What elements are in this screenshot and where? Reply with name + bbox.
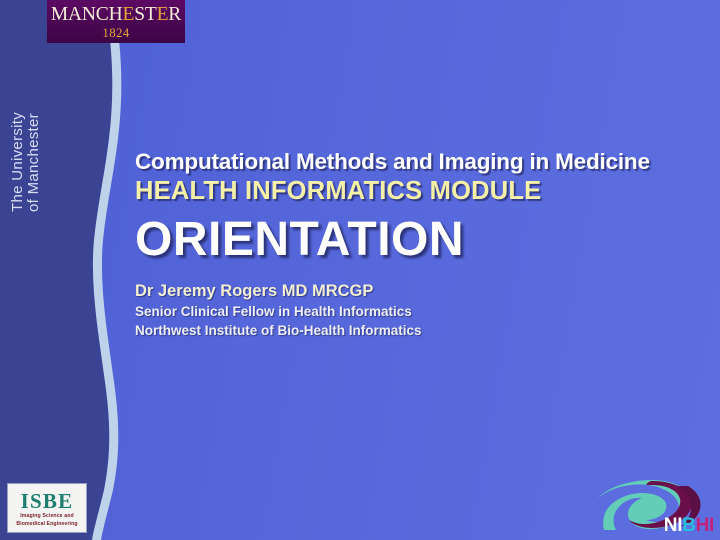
isbe-subtitle-line-2: Biomedical Engineering [16,521,77,527]
presentation-slide: MANCHESTER 1824 The University of Manche… [0,0,720,540]
nibhi-wordmark: NIBHI [664,516,714,535]
presenter-role: Senior Clinical Fellow in Health Informa… [135,302,715,321]
manchester-wordmark-part-2: ST [134,4,156,25]
course-title: Computational Methods and Imaging in Med… [135,148,715,175]
isbe-logo: ISBE Imaging Science and Biomedical Engi… [7,483,87,533]
nibhi-letter-h: H [696,515,709,536]
manchester-wordmark-accent-2: E [157,4,169,25]
vertical-university-name: The University of Manchester [8,44,64,214]
isbe-acronym: ISBE [21,491,74,512]
nibhi-letter-n1: N [664,515,677,536]
vertical-university-line-1: The University [10,112,26,212]
vertical-university-line-2: of Manchester [26,112,42,212]
manchester-founding-year: 1824 [102,26,129,39]
presenter-block: Dr Jeremy Rogers MD MRCGP Senior Clinica… [135,281,715,340]
manchester-wordmark: MANCHESTER [51,5,181,25]
slide-topic-title: ORIENTATION [135,211,715,269]
presenter-organisation: Northwest Institute of Bio-Health Inform… [135,321,715,340]
manchester-wordmark-part-3: R [168,4,181,25]
slide-text-block: Computational Methods and Imaging in Med… [135,148,715,340]
isbe-subtitle-line-1: Imaging Science and [20,513,74,519]
module-title: HEALTH INFORMATICS MODULE [135,176,715,207]
manchester-wordmark-accent-1: E [122,4,134,25]
presenter-name: Dr Jeremy Rogers MD MRCGP [135,281,715,302]
nibhi-letter-i2: I [709,515,714,536]
nibhi-letter-b: B [682,515,695,536]
nibhi-logo: NIBHI [592,478,716,536]
manchester-wordmark-part-1: MANCH [51,4,123,25]
manchester-university-logo: MANCHESTER 1824 [47,0,185,43]
